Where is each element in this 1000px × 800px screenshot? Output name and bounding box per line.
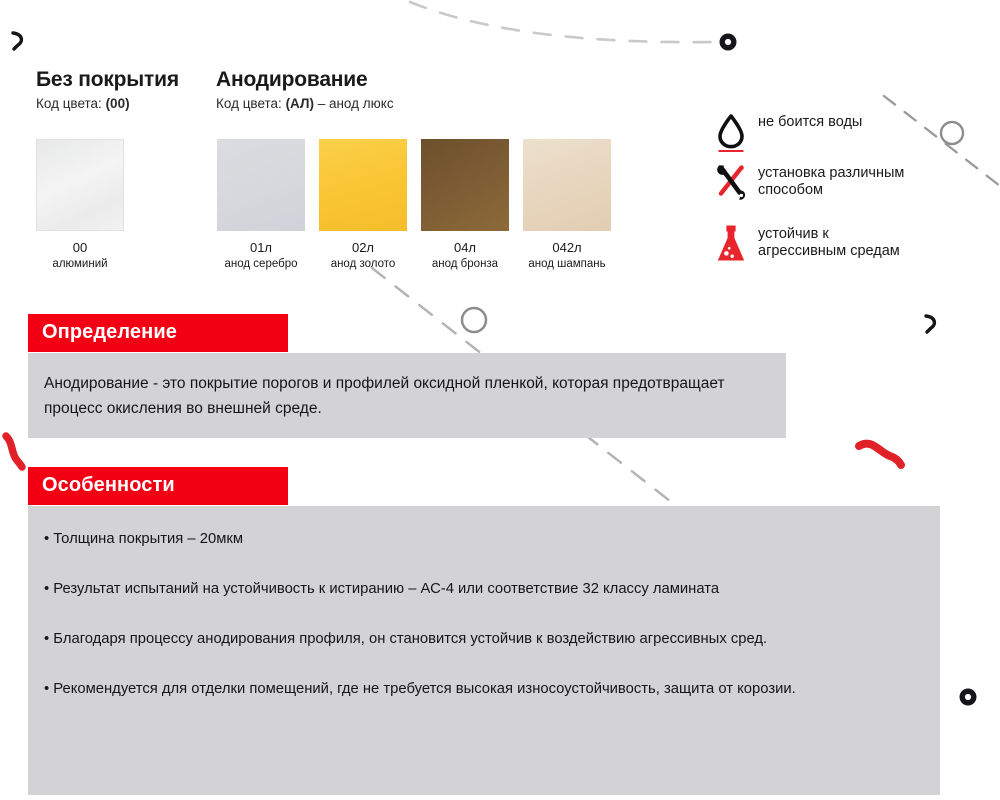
swatch-name-01l: анод серебро [217,257,305,271]
swatch-chip-aluminium [36,139,124,231]
flask-icon [714,224,748,264]
swatch-042l[interactable]: 042л анод шампань [523,139,611,272]
swatch-01l[interactable]: 01л анод серебро [217,139,305,272]
column-title-anodized: Анодирование [216,68,546,91]
swatch-chip-silver [217,139,305,231]
subtitle-suffix-anodized: – анод люкс [314,96,394,111]
feature-badge-label-install: установка различным способом [758,163,904,199]
feature-list-item: • Толщина покрытия – 20мкм [44,528,918,552]
swatch-02l[interactable]: 02л анод золото [319,139,407,272]
feature-badge-install: установка различным способом [714,163,904,201]
donut-mark-top [720,34,737,51]
squiggle-right [859,444,901,465]
water-drop-icon [714,112,748,152]
subtitle-code-anodized: (АЛ) [286,96,314,111]
subtitle-code-uncoated: (00) [106,96,130,111]
column-heading-anodized: Анодирование Код цвета: (АЛ) – анод люкс [216,68,546,112]
feature-list-item: • Рекомендуется для отделки помещений, г… [44,678,918,702]
swatch-chip-bronze [421,139,509,231]
swatch-00[interactable]: 00 алюминий [36,139,124,272]
feature-list-item: • Результат испытаний на устойчивость к … [44,578,918,602]
swatch-code-02l: 02л [319,240,407,256]
comma-mark-top-left [13,33,21,49]
features-panel: • Толщина покрытия – 20мкм • Результат и… [28,506,940,795]
swatch-name-00: алюминий [36,257,124,271]
swatch-name-04l: анод бронза [421,257,509,271]
feature-badge-chemical: устойчив к агрессивным средам [714,224,900,264]
swatch-chip-gold [319,139,407,231]
feature-badge-label-water: не боится воды [758,112,862,131]
definition-body: Анодирование - это покрытие порогов и пр… [44,371,762,421]
column-subtitle-uncoated: Код цвета: (00) [36,96,216,112]
feature-list-item: • Благодаря процессу анодирования профил… [44,628,918,652]
swatch-name-02l: анод золото [319,257,407,271]
crossed-tools-icon [714,163,748,201]
swatch-04l[interactable]: 04л анод бронза [421,139,509,272]
feature-badge-water: не боится воды [714,112,862,152]
definition-panel: Анодирование - это покрытие порогов и пр… [28,353,786,438]
features-tab-label: Особенности [28,467,288,505]
column-subtitle-anodized: Код цвета: (АЛ) – анод люкс [216,96,546,112]
definition-tab-label: Определение [28,314,288,352]
squiggle-left [6,436,22,467]
subtitle-prefix-anodized: Код цвета: [216,96,286,111]
feature-badge-label-chemical: устойчив к агрессивным средам [758,224,900,260]
donut-mark-bottom-right [960,689,977,706]
column-heading-uncoated: Без покрытия Код цвета: (00) [36,68,216,112]
subtitle-prefix-uncoated: Код цвета: [36,96,106,111]
swatch-name-042l: анод шампань [523,257,611,271]
ring-mark-center [462,308,486,332]
dashed-curve-top [410,2,715,42]
swatch-code-00: 00 [36,240,124,256]
swatch-code-04l: 04л [421,240,509,256]
swatch-code-042l: 042л [523,240,611,256]
swatch-chip-champagne [523,139,611,231]
comma-mark-right [926,316,934,332]
column-title-uncoated: Без покрытия [36,68,216,91]
swatch-code-01l: 01л [217,240,305,256]
ring-mark-right [941,122,963,144]
